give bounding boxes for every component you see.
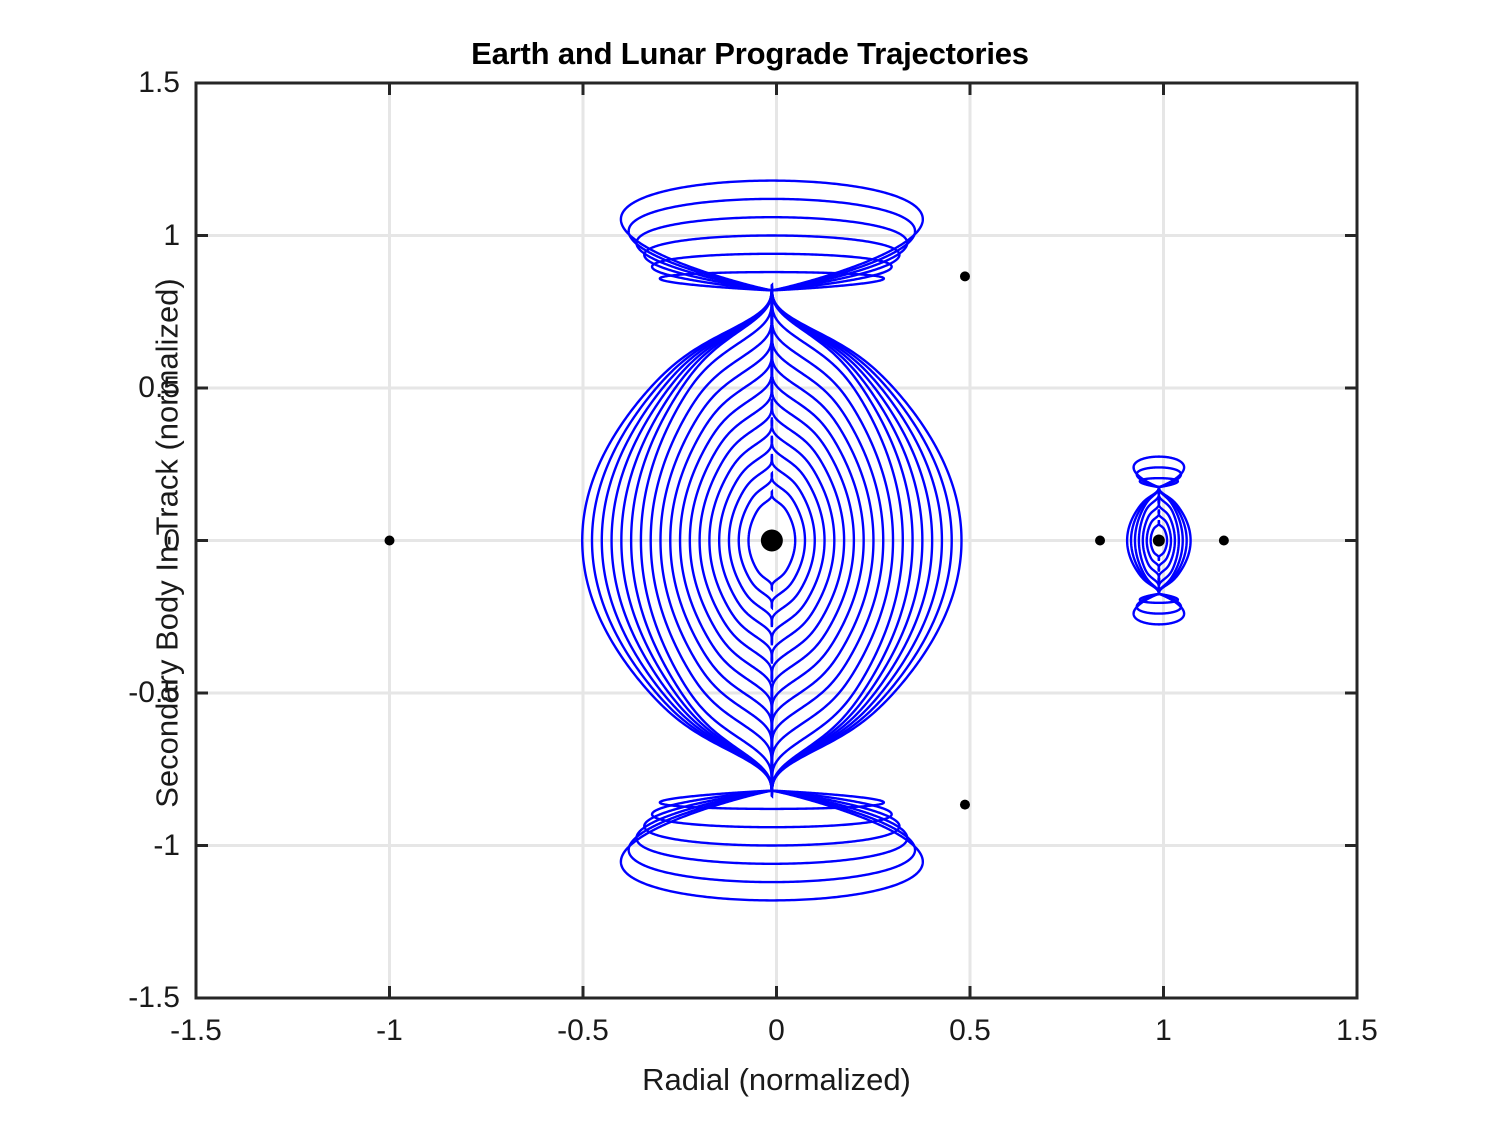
trajectory-plot-canvas xyxy=(0,0,1500,1125)
x-tick-label: 0 xyxy=(768,1014,785,1048)
x-tick-label: -0.5 xyxy=(557,1014,609,1048)
x-tick-label: 1 xyxy=(1155,1014,1172,1048)
x-axis-label: Radial (normalized) xyxy=(196,1062,1357,1098)
x-tick-label: 0.5 xyxy=(949,1014,991,1048)
x-tick-label: -1 xyxy=(376,1014,403,1048)
marker-moon xyxy=(1153,535,1165,547)
chart-page: Earth and Lunar Prograde Trajectories -1… xyxy=(0,0,1500,1125)
x-tick-label: -1.5 xyxy=(170,1014,222,1048)
y-axis-label: Secondary Body In-Track (normalized) xyxy=(150,86,186,1001)
marker-l2 xyxy=(1219,536,1229,546)
marker-l5 xyxy=(960,800,970,810)
marker-l1 xyxy=(1095,536,1105,546)
marker-earth xyxy=(761,530,783,552)
marker-l4 xyxy=(960,271,970,281)
x-tick-label: 1.5 xyxy=(1336,1014,1378,1048)
marker-l3 xyxy=(385,536,395,546)
